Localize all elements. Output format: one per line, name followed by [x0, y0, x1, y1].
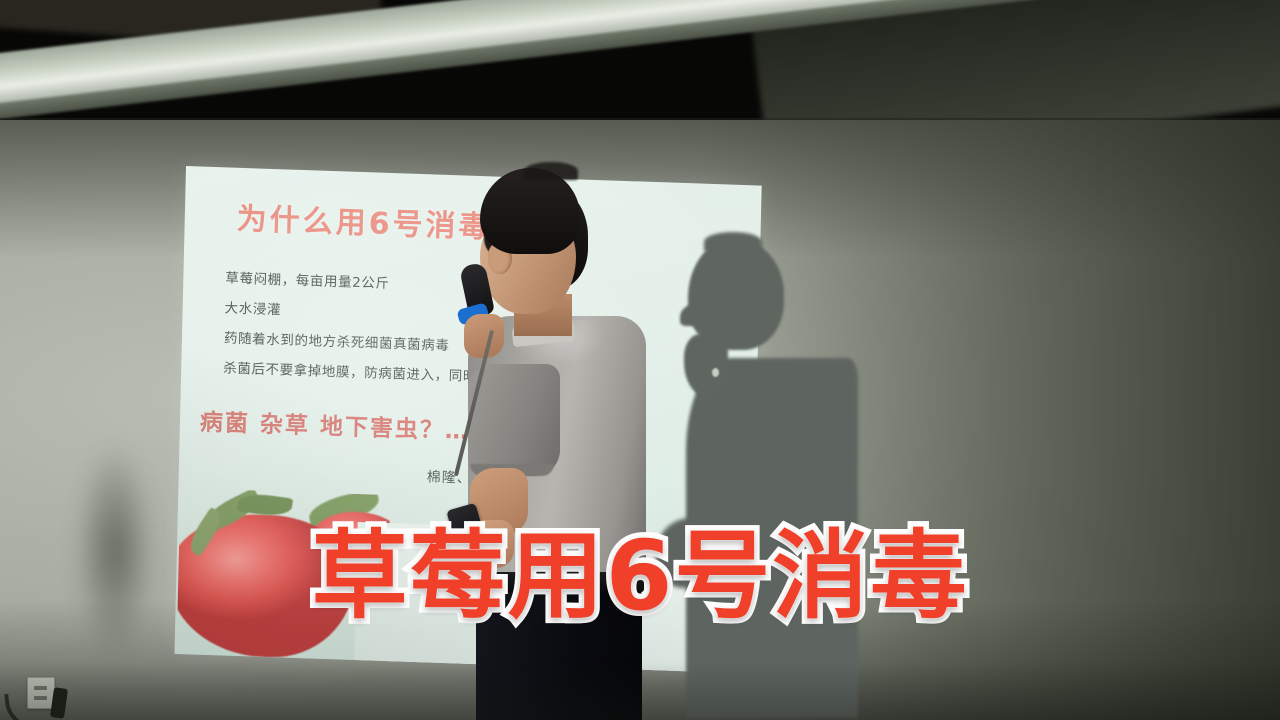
- presenter-belt: [476, 572, 644, 592]
- presenter-belt-buckle: [522, 574, 544, 590]
- presenter: [428, 168, 658, 720]
- presenter-hand: [468, 520, 514, 568]
- presenter-hair: [480, 168, 580, 254]
- presenter-sleeve: [468, 364, 560, 476]
- presenter-trousers: [476, 586, 642, 720]
- presenter-hair-wisp: [524, 162, 578, 180]
- screenshot-root: 为什么用6号消毒？ 草莓闷棚，每亩用量2公斤 大水浸灌 药随着水到的地方杀死细菌…: [0, 0, 1280, 720]
